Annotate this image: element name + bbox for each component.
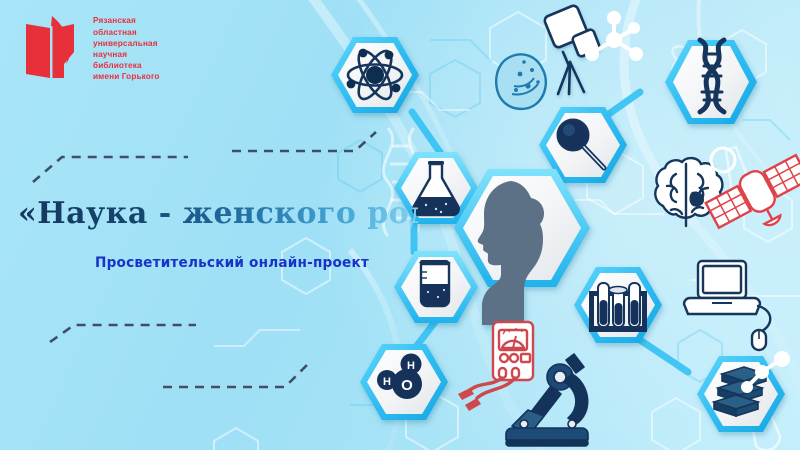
- svg-text:H: H: [383, 376, 391, 388]
- test-tube-rack-icon: [589, 283, 647, 332]
- hex-node-testtubes[interactable]: [574, 267, 662, 343]
- magnifying-glass-icon: [558, 120, 604, 168]
- cell-microbe-icon: [496, 54, 546, 109]
- logo-line-4: научная: [93, 49, 160, 60]
- microscope-icon: [506, 354, 588, 446]
- dash-bottom-left-path: [50, 325, 196, 342]
- connector-beaker-water: [412, 318, 438, 352]
- h2o-molecule-icon: O H H: [377, 354, 422, 400]
- molecule-node-icon: [585, 11, 643, 61]
- brain-icon: [655, 158, 722, 226]
- open-book-flame-logo-icon: [22, 12, 84, 86]
- logo-line-3: универсальная: [93, 38, 160, 49]
- hex-node-beaker[interactable]: [394, 251, 478, 323]
- library-logo[interactable]: Рязанская областная универсальная научна…: [22, 12, 160, 86]
- laptop-mouse-icon: [684, 261, 770, 350]
- svg-text:H: H: [407, 360, 415, 372]
- satellite-icon: [703, 150, 800, 248]
- hex-node-atom[interactable]: [331, 37, 419, 113]
- hex-node-water[interactable]: O H H: [360, 344, 448, 420]
- connector-testtube-books: [640, 340, 688, 372]
- circle-decor: [711, 148, 735, 172]
- dash-top-left-path: [33, 157, 188, 182]
- hex-node-portrait[interactable]: [454, 169, 669, 325]
- svg-text:O: O: [401, 377, 413, 394]
- woman-silhouette-icon: [478, 181, 544, 325]
- connector-atom-flask: [412, 112, 444, 158]
- logo-line-1: Рязанская: [93, 15, 160, 26]
- page-subtitle: Просветительский онлайн-проект: [95, 255, 369, 271]
- logo-line-5: библиотека: [93, 60, 160, 71]
- page-title: «Наука - женского рода»: [18, 196, 418, 232]
- beaker-icon: [419, 260, 451, 306]
- library-logo-text: Рязанская областная универсальная научна…: [93, 15, 160, 82]
- hex-node-books[interactable]: [697, 356, 785, 432]
- poster-canvas: Рязанская областная универсальная научна…: [0, 0, 800, 450]
- telescope-icon: [545, 6, 599, 94]
- hex-node-magnifier[interactable]: [539, 107, 627, 183]
- logo-line-2: областная: [93, 27, 160, 38]
- book-stack-icon: [714, 367, 766, 416]
- logo-line-6: имени Горького: [93, 71, 160, 82]
- hex-node-dna[interactable]: [665, 40, 757, 124]
- dna-helix-icon: [700, 40, 724, 112]
- multimeter-icon: [458, 322, 533, 411]
- molecule-node-icon-2: [741, 351, 790, 393]
- connector-dna-magnifier: [592, 92, 640, 126]
- dash-top-right-path: [232, 132, 376, 151]
- dash-bottom-right-path: [163, 365, 307, 387]
- atom-icon: [347, 46, 402, 103]
